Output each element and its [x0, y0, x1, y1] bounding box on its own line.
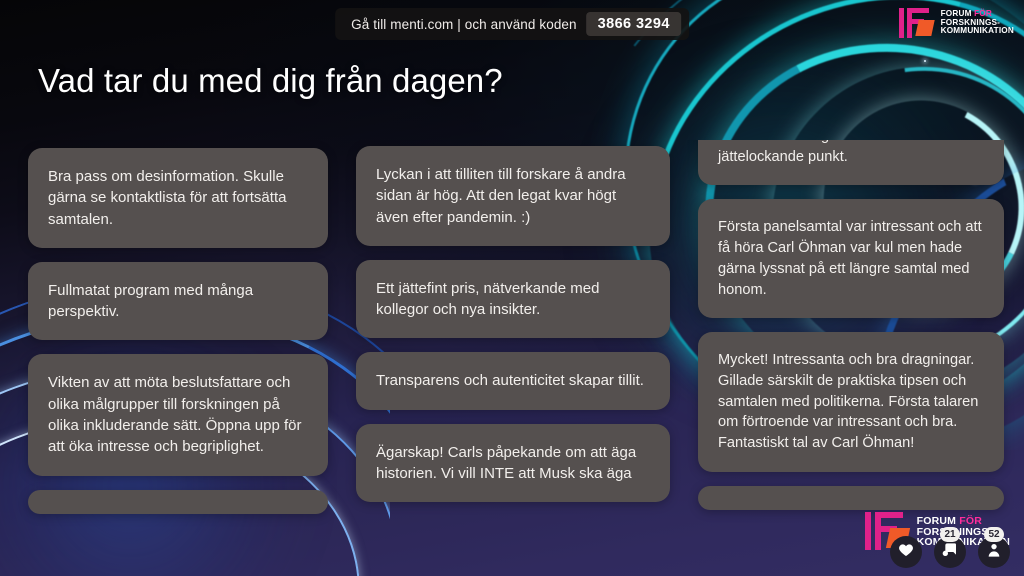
response-column-1: Bra pass om desinformation. Skulle gärna…	[0, 148, 342, 576]
heart-icon	[898, 542, 914, 563]
menti-instruction-text: Gå till menti.com | och använd koden	[351, 17, 576, 32]
like-button[interactable]	[890, 536, 922, 568]
person-icon	[986, 542, 1002, 563]
forum-logo-text: FORUM FÖR FORSKNINGS- KOMMUNIKATION	[941, 10, 1014, 35]
menti-code-value: 3866 3294	[587, 12, 681, 36]
logo-line3: KOMMUNIKATION	[941, 27, 1014, 35]
response-card: Ett jättefint pris, nätverkande med koll…	[356, 260, 670, 339]
response-card: Lyckan i att tilliten till forskare å an…	[356, 146, 670, 246]
participants-count-badge: 52	[984, 527, 1004, 542]
response-card: Första panelsamtal var intressant och at…	[698, 199, 1004, 318]
response-card: Transparens och autenticitet skapar till…	[356, 352, 670, 409]
response-card: “Sammanfattning” inte är en jättelockand…	[698, 140, 1004, 185]
response-card: Vikten av att möta beslutsfattare och ol…	[28, 354, 328, 475]
presentation-slide: Gå till menti.com | och använd koden 386…	[0, 0, 1024, 576]
response-card: Ägarskap! Carls påpekande om att äga his…	[356, 424, 670, 503]
forum-logo-mark	[899, 6, 935, 40]
action-button-group: 21 52	[890, 536, 1010, 568]
response-card: Fullmatat program med många perspektiv.	[28, 262, 328, 341]
comments-button[interactable]: 21	[934, 536, 966, 568]
response-card: Bra pass om desinformation. Skulle gärna…	[28, 148, 328, 248]
comments-count-badge: 21	[940, 527, 960, 542]
menti-code-bar: Gå till menti.com | och använd koden 386…	[335, 8, 689, 40]
brand-logo-top-right: FORUM FÖR FORSKNINGS- KOMMUNIKATION	[899, 6, 1014, 40]
participants-button[interactable]: 52	[978, 536, 1010, 568]
response-card-partial	[28, 490, 328, 514]
comment-icon	[942, 542, 958, 563]
response-card-partial	[698, 486, 1004, 510]
slide-title: Vad tar du med dig från dagen?	[38, 62, 503, 100]
response-column-2: Lyckan i att tilliten till forskare å an…	[342, 146, 684, 576]
response-card: Mycket! Intressanta och bra dragningar. …	[698, 332, 1004, 472]
